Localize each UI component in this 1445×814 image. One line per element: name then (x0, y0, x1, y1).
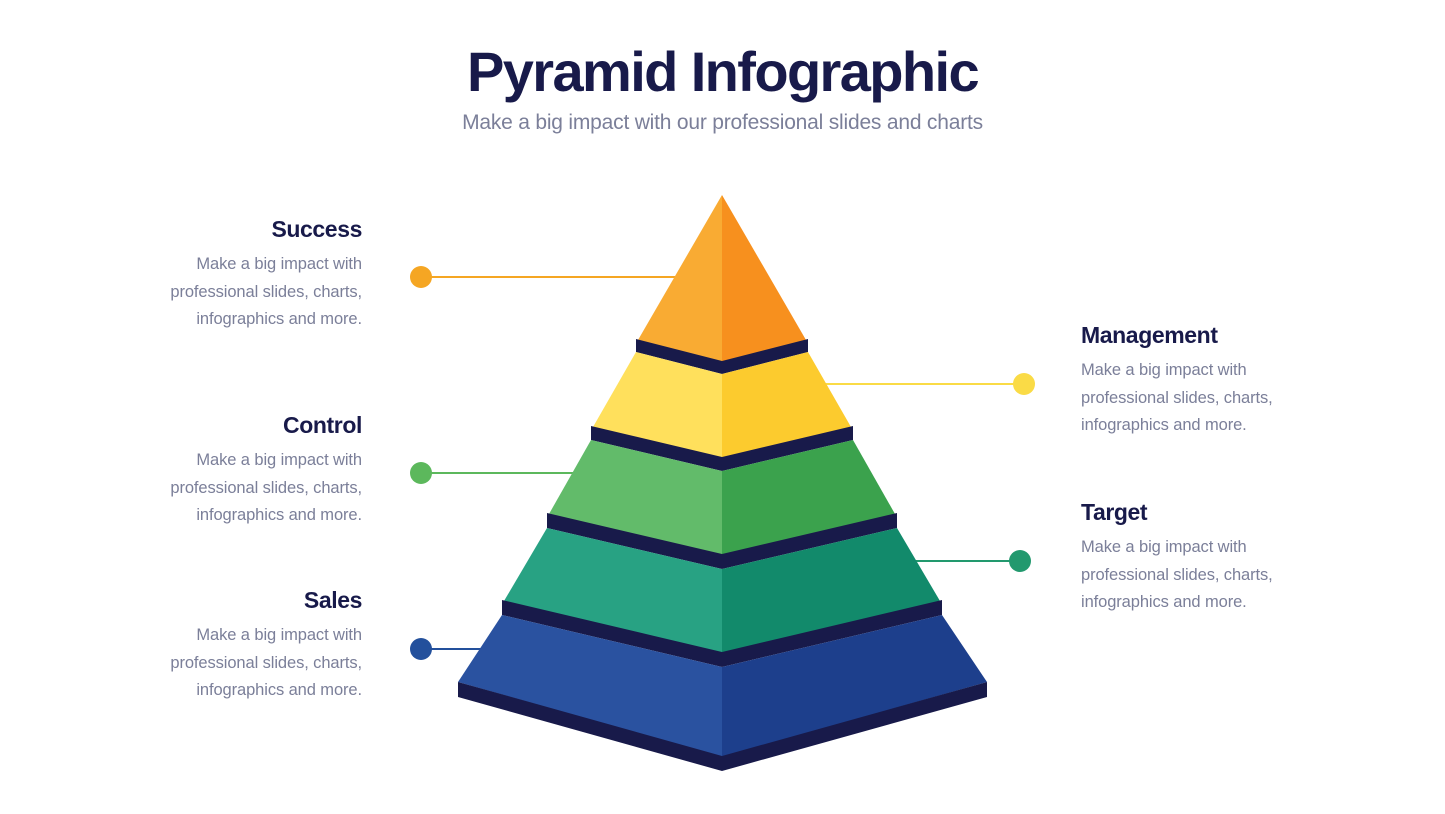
tier-sales-base-slab (458, 682, 987, 771)
tier-sales-face-left (458, 615, 722, 757)
pyramid-tier-success[interactable] (636, 195, 808, 374)
callout-management-description: Make a big impact with professional slid… (1081, 357, 1313, 439)
tier-success-face-right (722, 195, 806, 362)
tier-success-separator (636, 339, 808, 374)
callout-target-title: Target (1081, 499, 1313, 525)
callout-control[interactable]: Control Make a big impact with professio… (130, 412, 362, 529)
connector-dot-success (410, 266, 432, 288)
connector-dot-target (1009, 550, 1031, 572)
tier-management-face-left (593, 352, 722, 458)
callout-success[interactable]: Success Make a big impact with professio… (130, 216, 362, 333)
callout-sales-title: Sales (130, 587, 362, 613)
tier-management-face-right (722, 352, 851, 458)
pyramid-tier-sales[interactable] (458, 615, 987, 771)
connector-dot-sales (410, 638, 432, 660)
callout-sales-description: Make a big impact with professional slid… (130, 622, 362, 704)
page-subtitle: Make a big impact with our professional … (0, 110, 1445, 135)
pyramid-tier-control[interactable] (547, 440, 897, 569)
pyramid-tier-target[interactable] (502, 528, 942, 667)
callout-control-description: Make a big impact with professional slid… (130, 447, 362, 529)
connector-lines (421, 277, 1024, 649)
tier-target-face-right (722, 528, 940, 653)
tier-control-face-right (722, 440, 895, 555)
callout-control-title: Control (130, 412, 362, 438)
tier-sales-face-right (722, 615, 987, 757)
tier-target-face-left (504, 528, 722, 653)
tier-control-face-left (549, 440, 722, 555)
connector-dots (410, 266, 1035, 660)
pyramid-tier-management[interactable] (591, 352, 853, 471)
callout-target-description: Make a big impact with professional slid… (1081, 534, 1313, 616)
tier-success-face-left (638, 195, 722, 362)
callout-target[interactable]: Target Make a big impact with profession… (1081, 499, 1313, 616)
callout-success-title: Success (130, 216, 362, 242)
page-title: Pyramid Infographic (0, 42, 1445, 101)
slide-canvas: Pyramid Infographic Make a big impact wi… (0, 0, 1445, 814)
header: Pyramid Infographic Make a big impact wi… (0, 42, 1445, 136)
callout-management[interactable]: Management Make a big impact with profes… (1081, 322, 1313, 439)
callout-sales[interactable]: Sales Make a big impact with professiona… (130, 587, 362, 704)
tier-management-separator (591, 426, 853, 471)
tier-control-separator (547, 513, 897, 569)
connector-dot-management (1013, 373, 1035, 395)
callout-success-description: Make a big impact with professional slid… (130, 251, 362, 333)
callout-management-title: Management (1081, 322, 1313, 348)
tier-target-separator (502, 600, 942, 667)
connector-dot-control (410, 462, 432, 484)
